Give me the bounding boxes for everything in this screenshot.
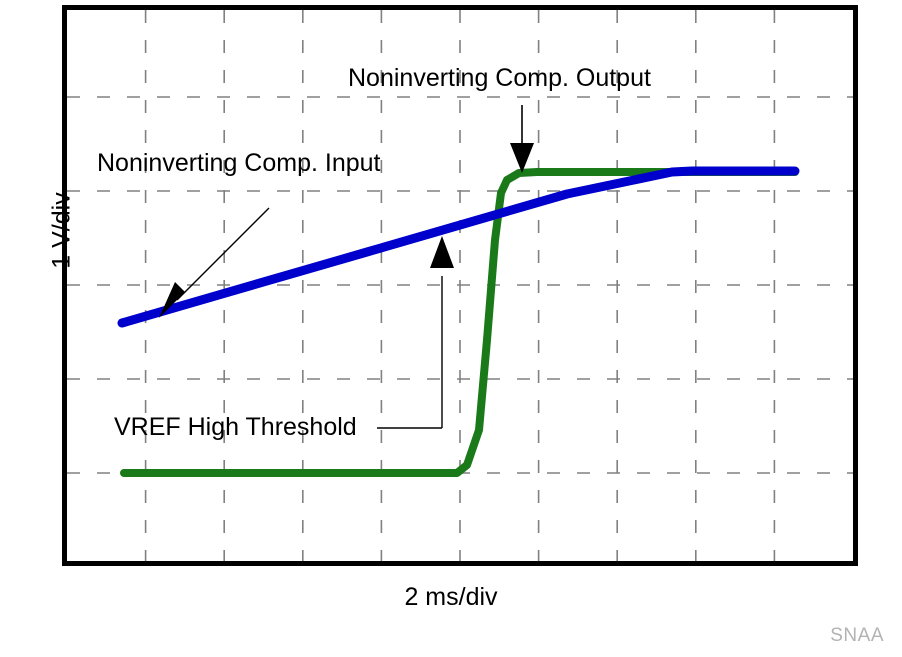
annotation-output-label: Noninverting Comp. Output xyxy=(348,66,651,91)
annotation-input-label: Noninverting Comp. Input xyxy=(97,151,380,176)
annotation-vref-label: VREF High Threshold xyxy=(114,415,357,440)
x-axis-label: 2 ms/div xyxy=(0,585,902,610)
annotation-arrows-layer xyxy=(67,10,853,561)
input-callout-arrow xyxy=(159,208,269,318)
document-id-footer: SNAA xyxy=(830,625,884,647)
plot-area xyxy=(67,10,853,561)
input-callout-line xyxy=(177,208,269,300)
output-callout-arrowhead xyxy=(510,143,534,173)
output-callout-arrow xyxy=(510,105,534,173)
waveform-figure: Noninverting Comp. Output Noninverting C… xyxy=(0,0,902,657)
y-axis-label: 1 V/div xyxy=(50,161,75,301)
input-callout-arrowhead xyxy=(159,282,185,318)
vref-callout-arrowhead xyxy=(430,236,454,268)
vref-callout-arrow xyxy=(377,236,454,428)
